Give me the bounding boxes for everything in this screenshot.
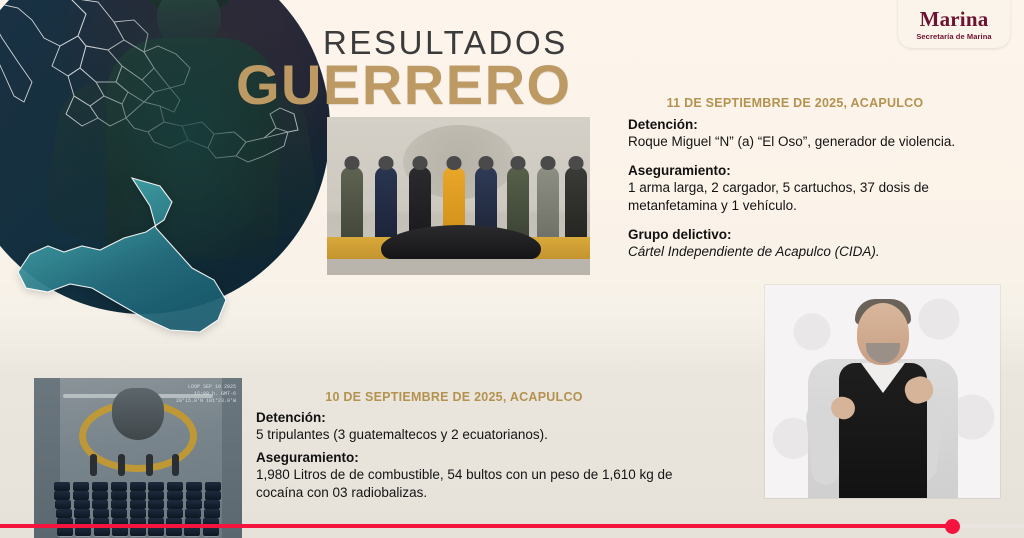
field-value-aseguramiento: 1 arma larga, 2 cargador, 5 cartuchos, 3… [628, 179, 1018, 215]
marina-logo-subtitle: Secretaría de Marina [916, 32, 991, 41]
sign-language-interpreter-video[interactable] [765, 285, 1000, 498]
detention-photo [327, 117, 590, 275]
field-label-grupo-delictivo: Grupo delictivo: [628, 227, 1018, 242]
field-value-detencion: 5 tripulantes (3 guatemaltecos y 2 ecuat… [256, 426, 696, 444]
seizure-photo: LOOP SEP 10 202515:09 h. GMT-620°15.0'N … [34, 378, 242, 538]
marina-logo-title: Marina [920, 9, 989, 30]
field-label-detencion: Detención: [628, 117, 1018, 132]
field-label-aseguramiento: Aseguramiento: [256, 450, 696, 465]
report-block-bottom: 10 DE SEPTIEMBRE DE 2025, ACAPULCO Deten… [256, 390, 696, 502]
report-date-heading: 10 DE SEPTIEMBRE DE 2025, ACAPULCO [256, 390, 652, 404]
video-progress-bar[interactable] [0, 524, 1024, 528]
video-progress-fill [0, 524, 952, 528]
video-timestamp-overlay: LOOP SEP 10 202515:09 h. GMT-620°15.0'N … [176, 384, 236, 404]
report-block-top: 11 DE SEPTIEMBRE DE 2025, ACAPULCO Deten… [628, 96, 1018, 261]
field-value-grupo-delictivo: Cártel Independiente de Acapulco (CIDA). [628, 243, 1018, 261]
video-progress-handle[interactable] [945, 519, 960, 534]
slide-canvas: Marina Secretaría de Marina RESULTADOS G… [0, 0, 1024, 538]
field-value-detencion: Roque Miguel “N” (a) “El Oso”, generador… [628, 133, 1018, 151]
field-label-aseguramiento: Aseguramiento: [628, 163, 1018, 178]
marina-logo: Marina Secretaría de Marina [898, 0, 1010, 48]
guerrero-state-highlight [4, 176, 266, 336]
page-title: GUERRERO [236, 52, 572, 117]
field-label-detencion: Detención: [256, 410, 696, 425]
field-value-aseguramiento: 1,980 Litros de de combustible, 54 bulto… [256, 466, 696, 502]
report-date-heading: 11 DE SEPTIEMBRE DE 2025, ACAPULCO [628, 96, 962, 110]
